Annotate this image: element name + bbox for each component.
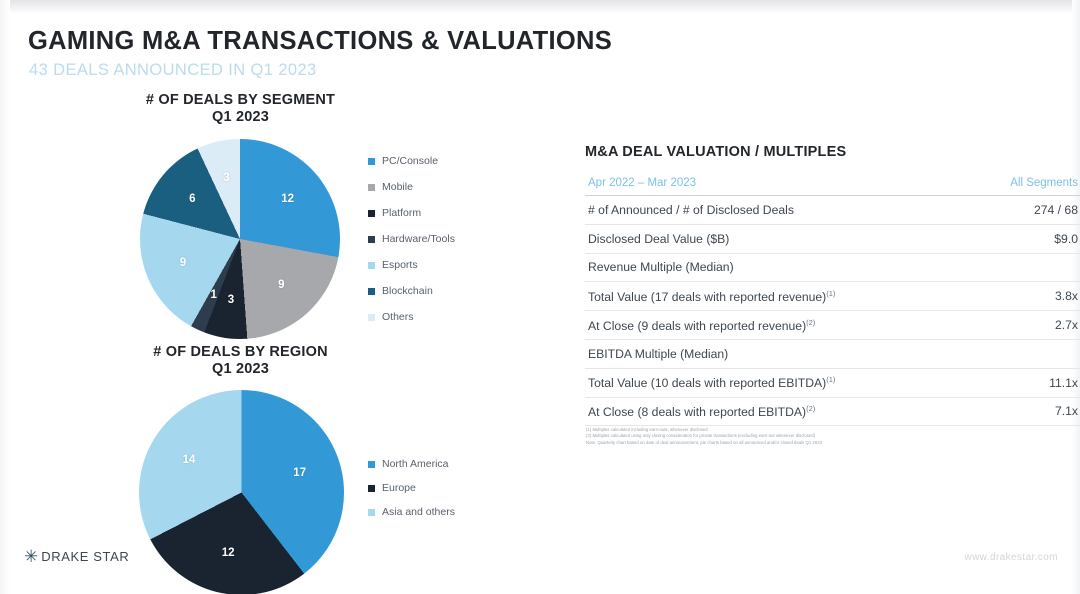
table-row-label: Disclosed Deal Value ($B): [588, 232, 729, 246]
table-row: At Close (8 deals with reported EBITDA)(…: [585, 398, 1080, 427]
valuation-table-body: # of Announced / # of Disclosed Deals274…: [585, 196, 1080, 426]
table-row-label: Revenue Multiple (Median): [588, 260, 734, 274]
legend-item[interactable]: Europe: [368, 476, 455, 500]
table-row: Total Value (10 deals with reported EBIT…: [585, 369, 1080, 398]
table-row: At Close (9 deals with reported revenue)…: [585, 311, 1080, 340]
deals-by-region-legend: North AmericaEuropeAsia and others: [368, 452, 455, 524]
page-subtitle: 43 DEALS ANNOUNCED IN Q1 2023: [29, 61, 317, 80]
deals-by-segment-pie: [140, 139, 340, 339]
table-row-label: Total Value (17 deals with reported reve…: [588, 289, 835, 304]
table-row: EBITDA Multiple (Median): [585, 340, 1080, 369]
legend-item[interactable]: North America: [368, 452, 455, 476]
legend-item-label: North America: [382, 458, 449, 470]
legend-item-label: Europe: [382, 482, 416, 494]
legend-item-label: PC/Console: [382, 155, 438, 167]
table-row-label: # of Announced / # of Disclosed Deals: [588, 203, 794, 217]
top-edge-band: [0, 0, 1080, 14]
legend-swatch-icon: [368, 236, 375, 243]
legend-item-label: Esports: [382, 259, 418, 271]
table-row-value: 274 / 68: [1034, 203, 1078, 217]
table-row-label: EBITDA Multiple (Median): [588, 347, 728, 361]
table-row-label: At Close (8 deals with reported EBITDA)(…: [588, 404, 815, 419]
table-row: Disclosed Deal Value ($B)$9.0: [585, 225, 1080, 254]
legend-item[interactable]: PC/Console: [368, 148, 455, 174]
table-row-label: At Close (9 deals with reported revenue)…: [588, 318, 815, 333]
legend-swatch-icon: [368, 314, 375, 321]
table-row-value: 2.7x: [1055, 318, 1078, 332]
segment-chart-title-line1: # OF DEALS BY SEGMENT: [138, 92, 343, 109]
legend-item[interactable]: Blockchain: [368, 278, 455, 304]
table-row-label: Total Value (10 deals with reported EBIT…: [588, 375, 835, 390]
valuation-table-header-row: Apr 2022 – Mar 2023 All Segments: [585, 170, 1080, 196]
star-icon: ✳: [24, 548, 38, 565]
footnote-marker: (2): [806, 318, 815, 327]
table-footnotes: (1) Multiples calculated including earn-…: [586, 427, 936, 446]
website-url: www.drakestar.com: [965, 552, 1059, 563]
legend-item[interactable]: Others: [368, 304, 455, 330]
page-title: GAMING M&A TRANSACTIONS & VALUATIONS: [28, 27, 612, 56]
legend-item[interactable]: Mobile: [368, 174, 455, 200]
region-chart-title-line1: # OF DEALS BY REGION: [138, 344, 343, 361]
legend-item[interactable]: Hardware/Tools: [368, 226, 455, 252]
table-row: # of Announced / # of Disclosed Deals274…: [585, 196, 1080, 225]
legend-item[interactable]: Platform: [368, 200, 455, 226]
slide-canvas: GAMING M&A TRANSACTIONS & VALUATIONS 43 …: [0, 0, 1080, 594]
segment-chart-title: # OF DEALS BY SEGMENT Q1 2023: [138, 92, 343, 126]
legend-item-label: Mobile: [382, 181, 413, 193]
legend-swatch-icon: [368, 184, 375, 191]
legend-swatch-icon: [368, 158, 375, 165]
legend-item-label: Platform: [382, 207, 421, 219]
deals-by-segment-legend: PC/ConsoleMobilePlatformHardware/ToolsEs…: [368, 148, 455, 330]
table-row-value: 11.1x: [1049, 376, 1078, 390]
footnote-marker: (2): [806, 404, 815, 413]
legend-item[interactable]: Esports: [368, 252, 455, 278]
legend-swatch-icon: [368, 485, 375, 492]
legend-swatch-icon: [368, 509, 375, 516]
legend-item-label: Blockchain: [382, 285, 433, 297]
region-chart-title: # OF DEALS BY REGION Q1 2023: [138, 344, 343, 378]
legend-swatch-icon: [368, 288, 375, 295]
valuation-table-heading: M&A DEAL VALUATION / MULTIPLES: [585, 144, 846, 160]
footnote-marker: (1): [826, 375, 835, 384]
footnote-marker: (1): [826, 289, 835, 298]
legend-swatch-icon: [368, 262, 375, 269]
table-row-value: $9.0: [1054, 232, 1078, 246]
footnote-line: Note: Quarterly chart based on date of d…: [586, 440, 936, 446]
table-row: Revenue Multiple (Median): [585, 254, 1080, 283]
table-row: Total Value (17 deals with reported reve…: [585, 282, 1080, 311]
legend-item-label: Others: [382, 311, 414, 323]
legend-swatch-icon: [368, 461, 375, 468]
table-row-value: 3.8x: [1055, 289, 1078, 303]
legend-item[interactable]: Asia and others: [368, 500, 455, 524]
valuation-table: Apr 2022 – Mar 2023 All Segments # of An…: [585, 170, 1080, 426]
left-edge-fade: [0, 0, 10, 594]
deals-by-region-pie: [139, 390, 344, 594]
logo-text: DRAKE STAR: [41, 549, 129, 564]
legend-item-label: Hardware/Tools: [382, 233, 455, 245]
period-label: Apr 2022 – Mar 2023: [588, 177, 696, 189]
value-column-label: All Segments: [1010, 177, 1078, 189]
segment-chart-title-line2: Q1 2023: [138, 109, 343, 126]
legend-item-label: Asia and others: [382, 506, 455, 518]
region-chart-title-line2: Q1 2023: [138, 361, 343, 378]
legend-swatch-icon: [368, 210, 375, 217]
table-row-value: 7.1x: [1055, 404, 1078, 418]
drake-star-logo: ✳ DRAKE STAR: [24, 548, 129, 565]
